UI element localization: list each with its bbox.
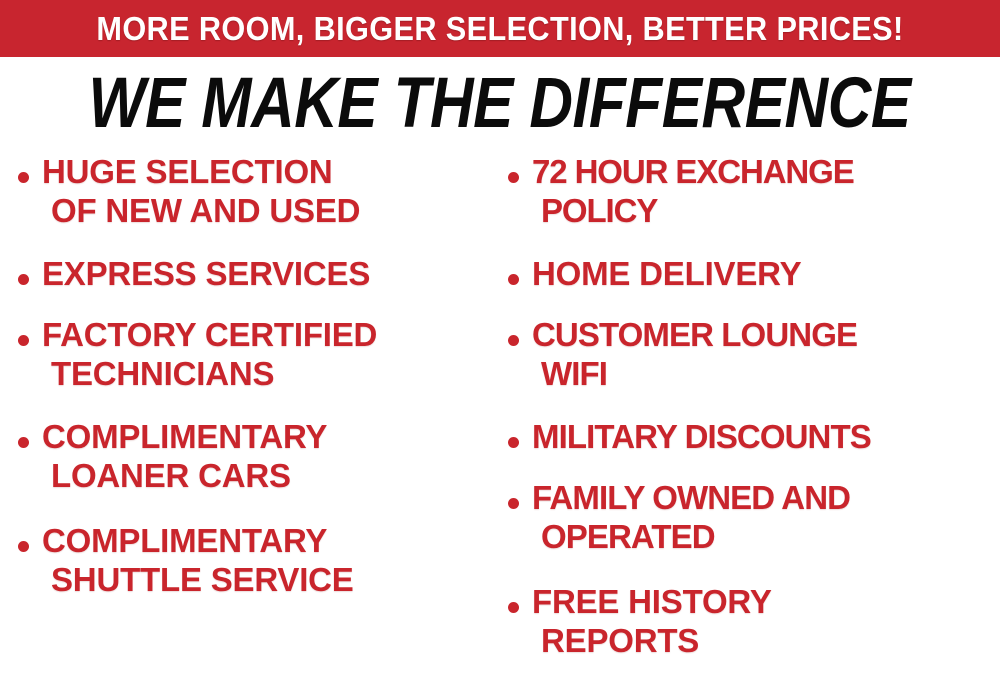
list-item-text: CUSTOMER LOUNGE WIFI: [532, 315, 857, 393]
list-item-text: 72 HOUR EXCHANGE POLICY: [532, 152, 854, 230]
promo-banner-text: MORE ROOM, BIGGER SELECTION, BETTER PRIC…: [96, 10, 903, 48]
list-item-line1: FACTORY CERTIFIED: [42, 316, 377, 353]
list-item-line2: POLICY: [532, 191, 854, 230]
bullet-dot-icon: [508, 172, 519, 183]
list-item-text: HUGE SELECTION OF NEW AND USED: [42, 152, 360, 230]
promo-banner: MORE ROOM, BIGGER SELECTION, BETTER PRIC…: [0, 0, 1000, 57]
headline-container: WE MAKE THE DIFFERENCE: [0, 66, 1000, 140]
list-item: COMPLIMENTARY SHUTTLE SERVICE: [18, 521, 500, 599]
list-item: COMPLIMENTARY LOANER CARS: [18, 417, 500, 495]
bullet-dot-icon: [508, 498, 519, 509]
list-item-line1: COMPLIMENTARY: [42, 522, 327, 559]
bullet-dot-icon: [18, 335, 29, 346]
list-item-line2: LOANER CARS: [42, 456, 327, 495]
list-item-line2: WIFI: [532, 354, 857, 393]
bullet-dot-icon: [508, 335, 519, 346]
page-title: WE MAKE THE DIFFERENCE: [89, 68, 911, 139]
list-item-text: FREE HISTORY REPORTS: [532, 582, 772, 660]
list-item-text: HOME DELIVERY: [532, 254, 801, 293]
benefits-column-right: 72 HOUR EXCHANGE POLICY HOME DELIVERY CU…: [508, 152, 1000, 694]
benefits-columns: HUGE SELECTION OF NEW AND USED EXPRESS S…: [0, 152, 1000, 694]
bullet-dot-icon: [18, 172, 29, 183]
list-item: HUGE SELECTION OF NEW AND USED: [18, 152, 500, 230]
list-item: MILITARY DISCOUNTS: [508, 417, 1000, 456]
bullet-dot-icon: [18, 541, 29, 552]
list-item-line1: CUSTOMER LOUNGE: [532, 316, 857, 353]
list-item-line2: OF NEW AND USED: [42, 191, 360, 230]
list-item: FAMILY OWNED AND OPERATED: [508, 478, 1000, 556]
list-item: 72 HOUR EXCHANGE POLICY: [508, 152, 1000, 230]
list-item: CUSTOMER LOUNGE WIFI: [508, 315, 1000, 393]
list-item-line2: OPERATED: [532, 517, 850, 556]
list-item-line1: 72 HOUR EXCHANGE: [532, 153, 854, 190]
benefits-column-left: HUGE SELECTION OF NEW AND USED EXPRESS S…: [18, 152, 500, 694]
list-item-line1: MILITARY DISCOUNTS: [532, 418, 871, 455]
list-item-line1: FAMILY OWNED AND: [532, 479, 850, 516]
list-item-text: COMPLIMENTARY SHUTTLE SERVICE: [42, 521, 354, 599]
list-item-line2: TECHNICIANS: [42, 354, 377, 393]
bullet-dot-icon: [18, 274, 29, 285]
bullet-dot-icon: [508, 274, 519, 285]
list-item: HOME DELIVERY: [508, 254, 1000, 293]
bullet-dot-icon: [508, 437, 519, 448]
list-item-line2: REPORTS: [532, 621, 772, 660]
list-item-line1: COMPLIMENTARY: [42, 418, 327, 455]
list-item-line1: EXPRESS SERVICES: [42, 255, 370, 292]
list-item-text: FACTORY CERTIFIED TECHNICIANS: [42, 315, 377, 393]
list-item-line2: SHUTTLE SERVICE: [42, 560, 354, 599]
list-item-line1: FREE HISTORY: [532, 583, 772, 620]
list-item-line1: HUGE SELECTION: [42, 153, 333, 190]
list-item: FREE HISTORY REPORTS: [508, 582, 1000, 660]
list-item: FACTORY CERTIFIED TECHNICIANS: [18, 315, 500, 393]
list-item-text: EXPRESS SERVICES: [42, 254, 370, 293]
list-item-line1: HOME DELIVERY: [532, 255, 801, 292]
list-item: EXPRESS SERVICES: [18, 254, 500, 293]
list-item-text: MILITARY DISCOUNTS: [532, 417, 871, 456]
list-item-text: COMPLIMENTARY LOANER CARS: [42, 417, 327, 495]
bullet-dot-icon: [508, 602, 519, 613]
list-item-text: FAMILY OWNED AND OPERATED: [532, 478, 850, 556]
bullet-dot-icon: [18, 437, 29, 448]
